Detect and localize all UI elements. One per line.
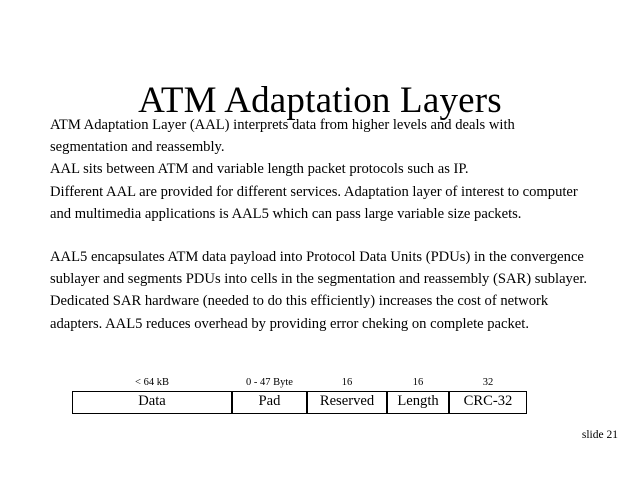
pdu-field-crc: CRC-32 <box>449 391 527 414</box>
slide-canvas: ATM Adaptation Layers ATM Adaptation Lay… <box>0 0 640 480</box>
slide-body: ATM Adaptation Layer (AAL) interprets da… <box>50 114 590 335</box>
pdu-size-label-pad: 0 - 47 Byte <box>232 374 307 391</box>
pdu-field-row: Data Pad Reserved Length CRC-32 <box>72 391 534 414</box>
paragraph-aal-position: AAL sits between ATM and variable length… <box>50 158 590 180</box>
pdu-field-length: Length <box>387 391 449 414</box>
pdu-size-labels: < 64 kB 0 - 47 Byte 16 16 32 <box>72 374 534 391</box>
pdu-frame-diagram: < 64 kB 0 - 47 Byte 16 16 32 Data Pad Re… <box>72 374 534 414</box>
paragraph-aal-intro: ATM Adaptation Layer (AAL) interprets da… <box>50 114 590 158</box>
pdu-size-label-crc: 32 <box>449 374 527 391</box>
pdu-field-pad: Pad <box>232 391 307 414</box>
paragraph-aal-services: Different AAL are provided for different… <box>50 181 590 225</box>
pdu-field-data: Data <box>72 391 232 414</box>
slide-number: slide 21 <box>582 428 618 442</box>
pdu-size-label-length: 16 <box>387 374 449 391</box>
pdu-field-reserved: Reserved <box>307 391 387 414</box>
pdu-size-label-data: < 64 kB <box>72 374 232 391</box>
paragraph-aal5-detail: AAL5 encapsulates ATM data payload into … <box>50 246 590 335</box>
pdu-size-label-reserved: 16 <box>307 374 387 391</box>
